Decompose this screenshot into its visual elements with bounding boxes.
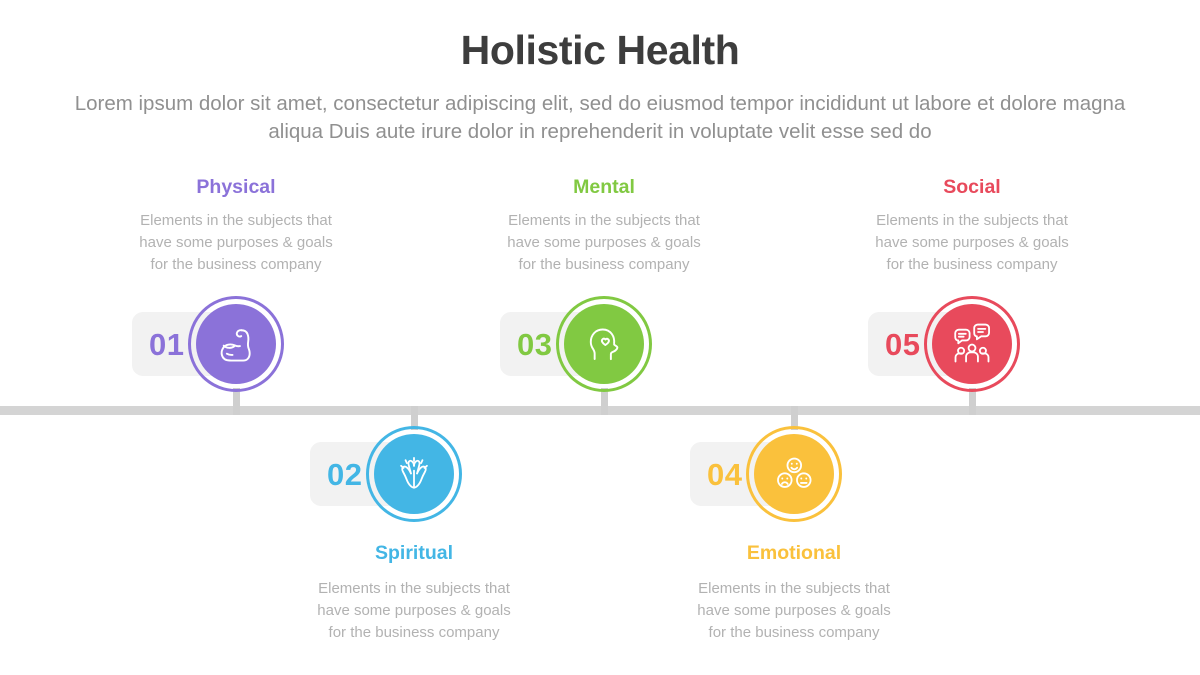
node-description-line: Elements in the subjects that [827, 210, 1117, 232]
node-connector-stem [233, 388, 240, 415]
node-description-line: for the business company [459, 254, 749, 276]
node-title: Emotional [649, 542, 939, 565]
node-icon-circle[interactable] [366, 426, 462, 522]
node-description-line: for the business company [649, 622, 939, 644]
page-title: Holistic Health [0, 0, 1200, 74]
node-description: Elements in the subjects thathave some p… [649, 578, 939, 644]
node-description-line: Elements in the subjects that [459, 210, 749, 232]
node-description-line: have some purposes & goals [91, 232, 381, 254]
node-number: 05 [885, 329, 920, 360]
praying-hands-icon [374, 434, 454, 514]
node-text-block: SpiritualElements in the subjects thatha… [269, 542, 559, 644]
node-description-line: have some purposes & goals [459, 232, 749, 254]
node-description: Elements in the subjects thathave some p… [459, 210, 749, 276]
node-description-line: Elements in the subjects that [91, 210, 381, 232]
node-connector-stem [601, 388, 608, 415]
node-description-line: have some purposes & goals [827, 232, 1117, 254]
node-text-block: MentalElements in the subjects thathave … [459, 176, 749, 276]
node-number: 01 [149, 329, 184, 360]
node-icon-circle[interactable] [556, 296, 652, 392]
node-title: Mental [459, 176, 749, 199]
node-text-block: EmotionalElements in the subjects thatha… [649, 542, 939, 644]
node-text-block: PhysicalElements in the subjects thathav… [91, 176, 381, 276]
page-subtitle: Lorem ipsum dolor sit amet, consectetur … [45, 74, 1155, 145]
node-icon-circle[interactable] [924, 296, 1020, 392]
node-number: 04 [707, 459, 742, 490]
header: Holistic Health Lorem ipsum dolor sit am… [0, 0, 1200, 145]
node-description-line: Elements in the subjects that [649, 578, 939, 600]
node-description-line: have some purposes & goals [269, 600, 559, 622]
node-description-line: for the business company [91, 254, 381, 276]
flexed-bicep-icon [196, 304, 276, 384]
node-title: Social [827, 176, 1117, 199]
node-icon-circle[interactable] [188, 296, 284, 392]
node-title: Physical [91, 176, 381, 199]
node-connector-stem [969, 388, 976, 415]
node-number: 02 [327, 459, 362, 490]
node-icon-circle[interactable] [746, 426, 842, 522]
node-description-line: Elements in the subjects that [269, 578, 559, 600]
people-speech-bubbles-icon [932, 304, 1012, 384]
node-title: Spiritual [269, 542, 559, 565]
node-description-line: for the business company [827, 254, 1117, 276]
emotion-faces-icon [754, 434, 834, 514]
node-description: Elements in the subjects thathave some p… [827, 210, 1117, 276]
node-description: Elements in the subjects thathave some p… [269, 578, 559, 644]
node-description-line: have some purposes & goals [649, 600, 939, 622]
head-heart-icon [564, 304, 644, 384]
node-description: Elements in the subjects thathave some p… [91, 210, 381, 276]
node-description-line: for the business company [269, 622, 559, 644]
node-number: 03 [517, 329, 552, 360]
node-text-block: SocialElements in the subjects thathave … [827, 176, 1117, 276]
